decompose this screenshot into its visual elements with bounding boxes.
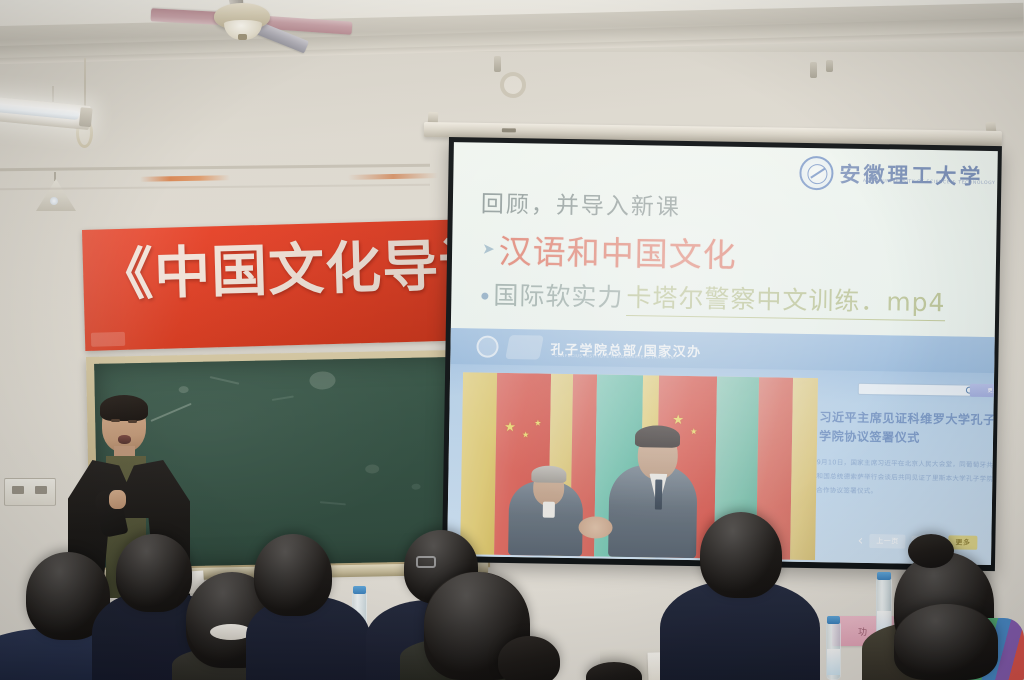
- projector-screen-border: 安徽理工大学 ANHUI UNIVERSITY OF SCIENCE & TEC…: [442, 137, 1002, 571]
- confucius-seal-icon: [476, 336, 498, 358]
- student-head: [116, 534, 192, 612]
- news-body: 9月10日，国家主席习近平在北京人民大会堂，同葡萄牙共和国总统德索萨举行会谈后共…: [816, 456, 995, 500]
- wall-orange-trim: [140, 175, 230, 182]
- news-headline[interactable]: 习近平主席见证科维罗大学孔子学院协议签署仪式: [819, 408, 995, 448]
- fluorescent-light-icon: [0, 94, 91, 130]
- banner-title: 《中国文化导论》: [96, 235, 468, 307]
- projected-slide[interactable]: 安徽理工大学 ANHUI UNIVERSITY OF SCIENCE & TEC…: [447, 142, 998, 565]
- page-chip[interactable]: 上一页: [869, 534, 906, 549]
- water-bottle[interactable]: [826, 622, 841, 680]
- search-input[interactable]: [858, 383, 978, 397]
- bottle-cap: [877, 572, 891, 580]
- eyeglasses-icon: [416, 556, 436, 568]
- bottle-label: [827, 649, 840, 675]
- ceiling-fan-icon: [150, 0, 460, 86]
- sconce-lamp: [50, 197, 58, 205]
- slide-text-area: 安徽理工大学 ANHUI UNIVERSITY OF SCIENCE & TEC…: [451, 142, 998, 337]
- wall-seam: [0, 184, 430, 191]
- screen-housing-vent: [502, 128, 516, 132]
- wall-orange-trim: [348, 173, 438, 180]
- fluorescent-tube: [0, 100, 79, 120]
- bottle-cap: [353, 586, 366, 594]
- ceiling-hook-icon: [494, 56, 501, 72]
- student-head: [254, 534, 332, 616]
- presenter-eye: [128, 420, 137, 423]
- official-right-hair: [635, 425, 680, 448]
- university-seal-icon: [799, 156, 834, 191]
- webpage-header: 孔子学院总部/国家汉办: [450, 328, 995, 373]
- ceiling-hook-icon: [826, 60, 833, 72]
- hanban-mark-icon: [505, 335, 544, 359]
- university-logo: 安徽理工大学: [799, 156, 984, 193]
- presenter-mouth: [118, 435, 131, 444]
- arrow-bullet-icon: ➤: [482, 240, 495, 258]
- slide-video-hyperlink[interactable]: 卡塔尔警察中文训练．mp4: [626, 278, 946, 321]
- wall-outlet-icon[interactable]: [4, 478, 56, 506]
- fluorescent-end-cap: [79, 107, 93, 127]
- fan-bottom-cap: [238, 34, 247, 40]
- ceiling-pipe-ring-icon: [500, 72, 526, 98]
- prev-page-icon[interactable]: ‹: [858, 533, 864, 549]
- official-left-hair: [531, 466, 566, 484]
- university-name: 安徽理工大学: [839, 158, 983, 190]
- ceiling-hook-icon: [810, 62, 817, 78]
- slide-bullet-primary-label: 汉语和中国文化: [498, 225, 737, 277]
- slide-bullet-primary: ➤ 汉语和中国文化: [482, 225, 737, 277]
- search-button[interactable]: 更多: [970, 384, 995, 398]
- bottle-cap: [827, 616, 840, 624]
- nameplate-text: 功: [858, 625, 868, 638]
- student-head-front-right: [894, 604, 998, 680]
- classroom-photo: 《中国文化导论》: [0, 0, 1024, 680]
- slide-heading: 回顾，并导入新课: [481, 185, 682, 222]
- slide-bullet-secondary-label: 国际软实力: [493, 276, 624, 314]
- presenter-eye: [111, 419, 120, 422]
- presenter-hair: [100, 395, 148, 421]
- hair-bun: [908, 534, 954, 568]
- wall-sconce-icon: [36, 179, 76, 211]
- presenter-hand: [109, 490, 126, 509]
- student-head: [498, 636, 560, 680]
- wall-seam: [0, 164, 430, 172]
- student-head: [700, 512, 782, 598]
- official-left-collar: [543, 502, 555, 518]
- dot-bullet-icon: [481, 293, 488, 300]
- slide-bullet-secondary: 国际软实力 卡塔尔警察中文训练．mp4: [481, 276, 946, 322]
- official-right-tie: [655, 480, 662, 510]
- light-hanger: [52, 86, 54, 102]
- course-banner: 《中国文化导论》: [82, 219, 480, 351]
- banner-tape: [91, 332, 125, 347]
